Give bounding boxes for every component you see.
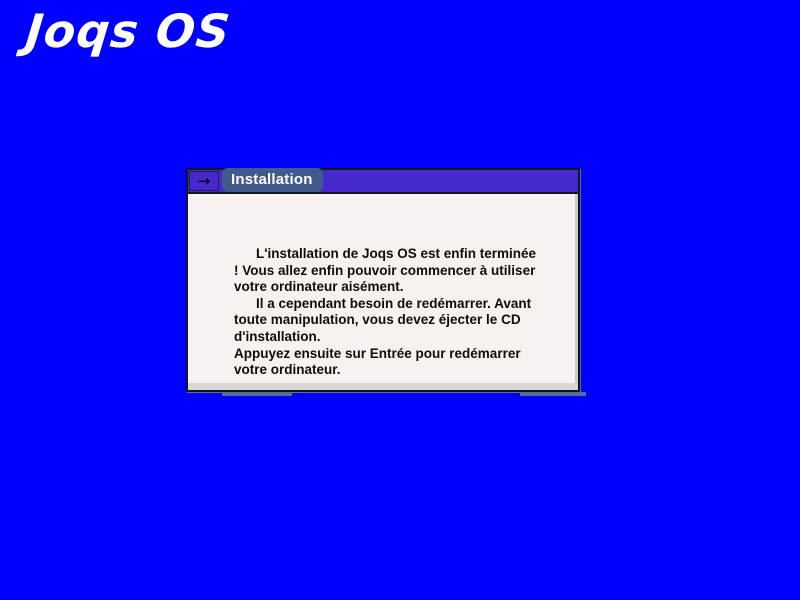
message-paragraph-1: L'installation de Joqs OS est enfin term… — [234, 246, 544, 296]
content-right-bevel — [575, 194, 578, 390]
right-arrow-icon[interactable]: → — [189, 171, 219, 191]
desktop-background: Joqs OS → Installation L'installation de… — [0, 0, 800, 600]
content-bottom-bevel — [188, 383, 578, 390]
window-titlebar: → Installation — [188, 170, 578, 194]
window-content: L'installation de Joqs OS est enfin term… — [188, 194, 578, 390]
window-shadow-right — [520, 392, 586, 396]
os-logo: Joqs OS — [24, 8, 233, 54]
installation-dialog-window: → Installation L'installation de Joqs OS… — [186, 168, 580, 392]
installation-message: L'installation de Joqs OS est enfin term… — [234, 246, 544, 379]
window-title: Installation — [222, 168, 323, 192]
message-paragraph-3: Appuyez ensuite sur Entrée pour redémarr… — [234, 346, 544, 379]
message-paragraph-2: Il a cependant besoin de redémarrer. Ava… — [234, 296, 544, 346]
window-shadow-left — [222, 392, 292, 396]
